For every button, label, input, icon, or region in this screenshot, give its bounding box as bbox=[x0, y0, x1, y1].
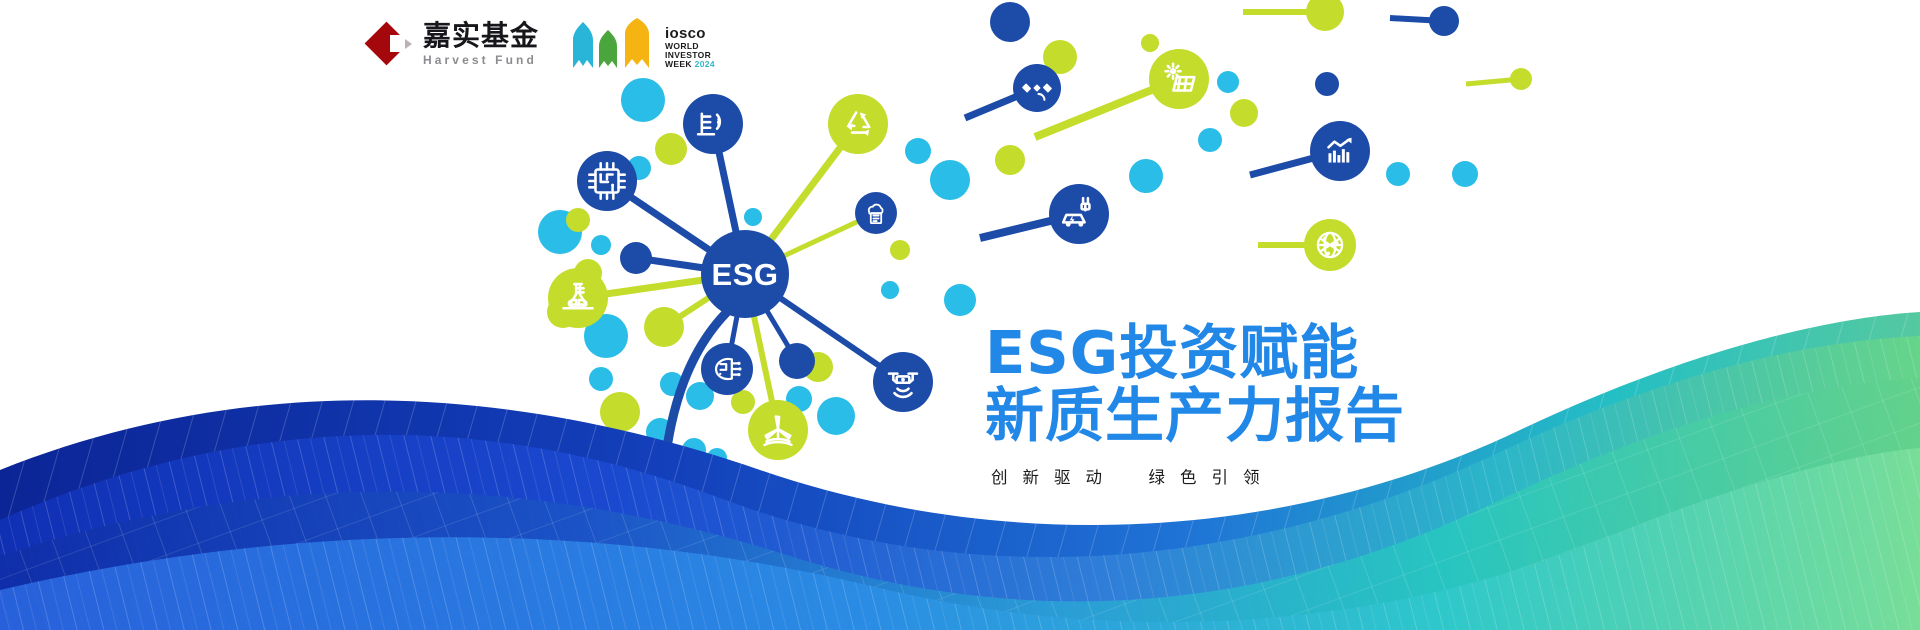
esg-report-banner: ESG 嘉实基金 Harvest Fund bbox=[0, 0, 1920, 630]
node-cloud-server[interactable] bbox=[855, 192, 897, 234]
decorative-dot-32 bbox=[1141, 34, 1159, 52]
decorative-dot-27 bbox=[995, 145, 1025, 175]
decorative-dot-4 bbox=[566, 208, 590, 232]
harvest-fund-chinese-name: 嘉实基金 bbox=[423, 22, 539, 50]
node-5g-tower-circle bbox=[683, 94, 743, 154]
node-plain-3[interactable] bbox=[779, 343, 815, 379]
decorative-dot-1 bbox=[621, 78, 665, 122]
node-recycle-circle bbox=[828, 94, 888, 154]
node-growth-chart[interactable] bbox=[1310, 121, 1370, 181]
node-ev-charge[interactable] bbox=[1049, 184, 1109, 244]
node-plain-2-circle bbox=[644, 307, 684, 347]
node-plain-6-circle bbox=[1306, 0, 1344, 31]
decorative-dot-31 bbox=[1217, 71, 1239, 93]
esg-hub-label: ESG bbox=[712, 257, 779, 292]
decorative-dot-30 bbox=[1452, 161, 1478, 187]
node-wind-farm[interactable] bbox=[748, 400, 808, 460]
node-plain-4[interactable] bbox=[990, 2, 1030, 42]
decorative-dot-22 bbox=[930, 160, 970, 200]
decorative-dot-34 bbox=[881, 281, 899, 299]
decorative-dot-11 bbox=[600, 392, 640, 432]
node-plain-1[interactable] bbox=[620, 242, 652, 274]
iosco-week-text: WEEK bbox=[665, 59, 692, 69]
node-ai-brain[interactable] bbox=[701, 343, 753, 395]
decorative-dot-8 bbox=[589, 367, 613, 391]
node-recycle[interactable] bbox=[828, 94, 888, 154]
decorative-dot-33 bbox=[890, 240, 910, 260]
node-5g-tower[interactable] bbox=[683, 94, 743, 154]
node-drone[interactable] bbox=[873, 352, 933, 412]
iosco-brand-text: iosco bbox=[665, 26, 715, 42]
banner-artwork: ESG bbox=[0, 0, 1920, 630]
node-plain-1-circle bbox=[620, 242, 652, 274]
subtitle-text: 创新驱动 绿色引领 bbox=[985, 464, 1405, 488]
node-plain-7[interactable] bbox=[1510, 68, 1532, 90]
decorative-dot-16 bbox=[817, 397, 855, 435]
decorative-dot-23 bbox=[944, 284, 976, 316]
iosco-year: 2024 bbox=[695, 59, 715, 69]
node-plain-3-circle bbox=[779, 343, 815, 379]
decorative-dot-28 bbox=[1230, 99, 1258, 127]
headline-line-1: ESG投资赋能 bbox=[985, 322, 1405, 385]
node-chip[interactable] bbox=[577, 151, 637, 211]
node-plain-7-circle bbox=[1510, 68, 1532, 90]
wave-decoration bbox=[0, 280, 1920, 630]
headline-line-2: 新质生产力报告 bbox=[985, 385, 1405, 448]
decorative-dot-3 bbox=[655, 133, 687, 165]
logo-row: 嘉实基金 Harvest Fund iosco WORLD INVESTOR W… bbox=[370, 18, 715, 70]
decorative-dot-6 bbox=[591, 235, 611, 255]
node-plain-4-circle bbox=[990, 2, 1030, 42]
iosco-logo[interactable]: iosco WORLD INVESTOR WEEK 2024 bbox=[567, 18, 715, 70]
node-satellite[interactable] bbox=[1013, 64, 1061, 112]
iosco-line-week: WEEK 2024 bbox=[665, 60, 715, 69]
node-lab-flask[interactable] bbox=[548, 268, 608, 328]
iosco-pencils-icon bbox=[567, 18, 659, 70]
node-plain-6[interactable] bbox=[1306, 0, 1344, 31]
node-lab-flask-circle bbox=[548, 268, 608, 328]
harvest-fund-diamond-icon bbox=[370, 22, 414, 66]
node-plain-8-circle bbox=[1315, 72, 1339, 96]
node-solar-panel[interactable] bbox=[1149, 49, 1209, 109]
harvest-fund-logo[interactable]: 嘉实基金 Harvest Fund bbox=[370, 22, 539, 66]
node-growth-chart-circle bbox=[1310, 121, 1370, 181]
decorative-dot-29 bbox=[1386, 162, 1410, 186]
node-globe-net[interactable] bbox=[1304, 219, 1356, 271]
node-plain-5[interactable] bbox=[1429, 6, 1459, 36]
decorative-dot-24 bbox=[1129, 159, 1163, 193]
node-plain-2[interactable] bbox=[644, 307, 684, 347]
decorative-dot-20 bbox=[744, 208, 762, 226]
node-plain-8[interactable] bbox=[1315, 72, 1339, 96]
node-plain-5-circle bbox=[1429, 6, 1459, 36]
decorative-dot-21 bbox=[905, 138, 931, 164]
harvest-fund-english-name: Harvest Fund bbox=[423, 54, 539, 66]
esg-hub[interactable]: ESG bbox=[701, 230, 789, 318]
decorative-dot-25 bbox=[1198, 128, 1222, 152]
headline-block: ESG投资赋能 新质生产力报告 创新驱动 绿色引领 bbox=[985, 322, 1405, 488]
